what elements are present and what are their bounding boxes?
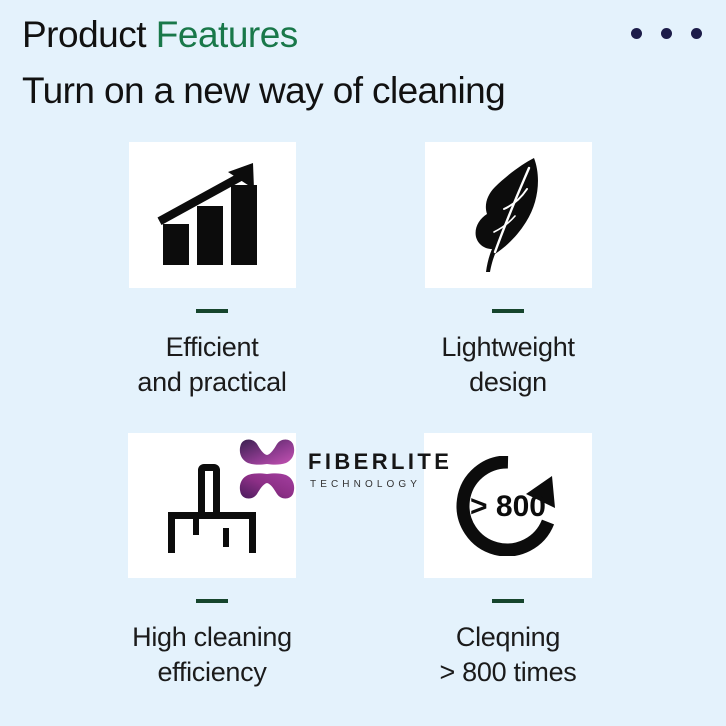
feature-caption-line1: Lightweight bbox=[441, 332, 574, 362]
feature-caption-line1: High cleaning bbox=[132, 622, 292, 652]
page-title: Product Features bbox=[22, 14, 298, 56]
feature-divider bbox=[196, 599, 228, 603]
page-subtitle: Turn on a new way of cleaning bbox=[22, 70, 505, 112]
feather-icon bbox=[471, 156, 545, 274]
feature-card-lightweight-design[interactable]: Lightweight design bbox=[358, 142, 658, 399]
fiberlite-x-mark-icon bbox=[236, 438, 298, 500]
feature-caption: Cleqning > 800 times bbox=[358, 620, 658, 689]
feature-card-efficient-and-practical[interactable]: Efficient and practical bbox=[62, 142, 362, 399]
page-title-prefix: Product bbox=[22, 14, 156, 55]
feature-caption: High cleaning efficiency bbox=[62, 620, 362, 689]
growth-bar-chart-arrow-icon bbox=[156, 162, 268, 268]
decorative-dots bbox=[631, 28, 702, 39]
feature-icon-card bbox=[425, 142, 592, 288]
feature-caption: Efficient and practical bbox=[62, 330, 362, 399]
fiberlite-name: FIBERLITE bbox=[308, 451, 452, 473]
fiberlite-wordmark: FIBERLITE TECHNOLOGY bbox=[308, 449, 452, 490]
dot-icon-1 bbox=[631, 28, 642, 39]
feature-caption-line1: Efficient bbox=[166, 332, 259, 362]
header: Product Features Turn on a new way of cl… bbox=[0, 0, 726, 130]
dot-icon-3 bbox=[691, 28, 702, 39]
cycle-count-label: > 800 bbox=[470, 490, 546, 523]
feature-caption-line2: efficiency bbox=[62, 655, 362, 690]
page-title-accent: Features bbox=[156, 14, 298, 55]
feature-caption-line2: design bbox=[358, 365, 658, 400]
feature-divider bbox=[492, 309, 524, 313]
dot-icon-2 bbox=[661, 28, 672, 39]
feature-caption-line2: and practical bbox=[62, 365, 362, 400]
feature-caption-line1: Cleqning bbox=[456, 622, 560, 652]
feature-caption-line2: > 800 times bbox=[358, 655, 658, 690]
fiberlite-brand-logo[interactable]: FIBERLITE TECHNOLOGY bbox=[236, 433, 458, 505]
circular-arrow-cycle-icon: > 800 bbox=[456, 456, 560, 556]
feature-divider bbox=[492, 599, 524, 603]
feature-icon-card bbox=[129, 142, 296, 288]
feature-caption: Lightweight design bbox=[358, 330, 658, 399]
feature-divider bbox=[196, 309, 228, 313]
fiberlite-tagline: TECHNOLOGY bbox=[310, 480, 452, 490]
